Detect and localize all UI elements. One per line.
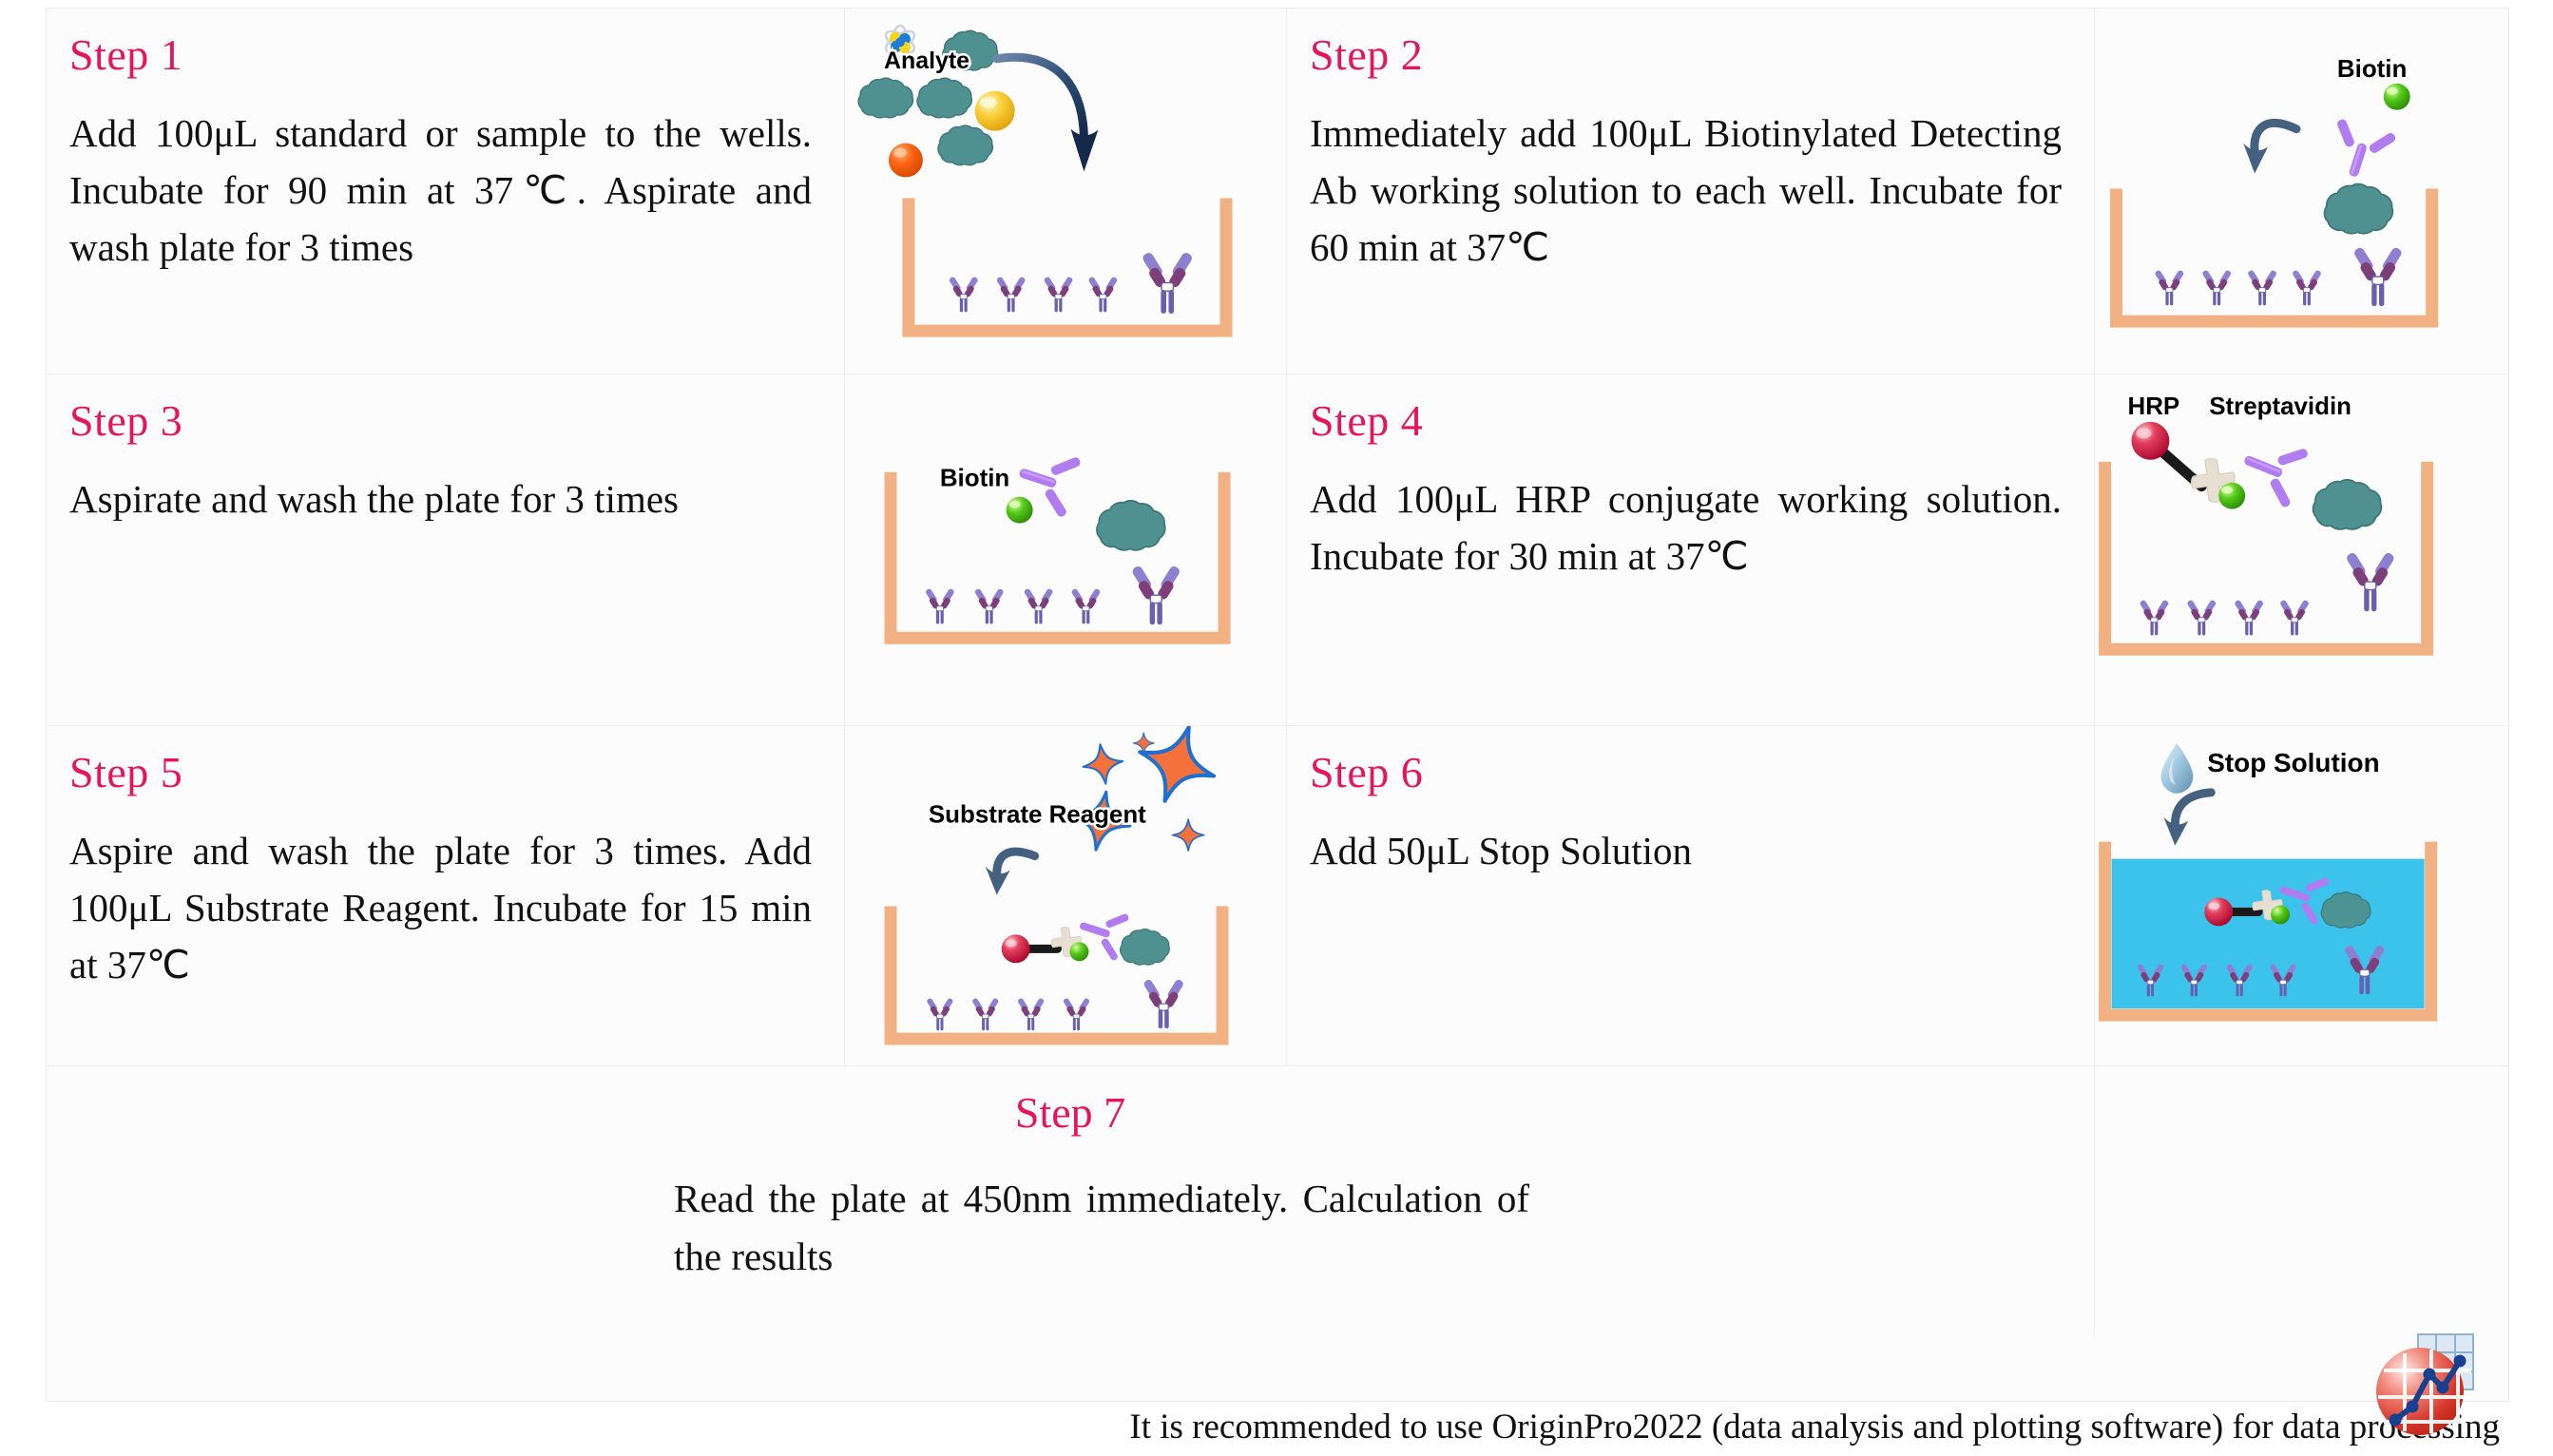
step-5-text-cell: Step 5 Aspire and wash the plate for 3 t… — [47, 726, 845, 1066]
capture-antibody — [1024, 588, 1054, 624]
biotin-sphere — [1007, 497, 1033, 524]
analyte-sphere-yellow — [975, 91, 1015, 131]
step-3-title: Step 3 — [69, 399, 812, 443]
capture-antibody — [974, 588, 1005, 624]
read-plate-figure — [2095, 1066, 2133, 1337]
step-6-figure-cell: Stop Solution — [2095, 726, 2508, 1066]
capture-antibody — [1071, 588, 1102, 624]
analyte-binding-figure: Analyte — [845, 9, 1286, 374]
capture-antibody — [925, 588, 955, 624]
capture-antibody — [2279, 600, 2310, 636]
footer: It is recommended to use OriginPro2022 (… — [46, 1401, 2507, 1456]
analyte-blob — [938, 125, 992, 165]
capture-antibody — [926, 998, 953, 1031]
bound-biotin-antibody-figure: Biotin — [845, 374, 1286, 725]
bound-analyte — [2313, 480, 2382, 529]
stop-solution-figure: Stop Solution — [2095, 726, 2508, 1065]
step-1-title: Step 1 — [69, 33, 812, 77]
capture-antibody — [1063, 998, 1090, 1031]
step-3-text-cell: Step 3 Aspirate and wash the plate for 3… — [47, 374, 845, 726]
detection-antibody — [2233, 429, 2313, 511]
capture-antibody — [1044, 277, 1074, 313]
capture-antibody — [1017, 998, 1045, 1031]
analyte-label: Analyte — [884, 48, 969, 74]
capture-antibody — [2140, 600, 2170, 636]
step-6-title: Step 6 — [1310, 751, 2062, 795]
step-4-title: Step 4 — [1310, 399, 2062, 443]
hrp-label: HRP — [2127, 393, 2179, 420]
biotin-sphere — [2384, 84, 2410, 110]
capture-antibody — [2234, 600, 2264, 636]
hrp-sphere — [2204, 897, 2233, 926]
bound-analyte — [1121, 929, 1170, 965]
curved-arrow-icon — [2243, 123, 2296, 173]
step-7-title: Step 7 — [47, 1087, 2094, 1138]
capture-antibody — [2186, 600, 2217, 636]
capture-antibody — [2247, 270, 2277, 306]
step-5-body: Aspire and wash the plate for 3 times. A… — [69, 823, 812, 994]
step-7-body: Read the plate at 450nm immediately. Cal… — [674, 1170, 1529, 1285]
capture-antibody — [996, 277, 1027, 313]
protocol-step-grid: Step 1 Add 100μL standard or sample to t… — [46, 8, 2509, 1402]
capture-antibody — [2201, 270, 2232, 306]
step-2-figure-cell: Biotin — [2095, 9, 2508, 374]
step-6-text-cell: Step 6 Add 50μL Stop Solution — [1287, 726, 2095, 1066]
biotin-label: Biotin — [940, 466, 1009, 492]
step-4-text-cell: Step 4 Add 100μL HRP conjugate working s… — [1287, 374, 2095, 726]
step-1-text-cell: Step 1 Add 100μL standard or sample to t… — [47, 9, 845, 374]
step-3-figure-cell: Biotin — [845, 374, 1287, 726]
water-drop-icon — [2160, 743, 2193, 794]
step-7-text-cell: Step 7 Read the plate at 450nm immediate… — [47, 1066, 2095, 1337]
step-4-body: Add 100μL HRP conjugate working solution… — [1310, 471, 2062, 585]
bound-analyte — [2325, 184, 2393, 234]
sparkle-icon — [1173, 819, 1204, 851]
capture-antibody-large — [1131, 565, 1181, 624]
step-3-body: Aspirate and wash the plate for 3 times — [69, 471, 812, 528]
substrate-reagent-label: Substrate Reagent — [929, 802, 1146, 829]
analyte-sphere-orange — [889, 144, 923, 178]
step-2-body: Immediately add 100μL Biotinylated Detec… — [1310, 105, 2062, 277]
hrp-sphere — [1002, 934, 1030, 963]
hrp-streptavidin-figure: HRP Streptavidin — [2095, 374, 2508, 725]
footer-note: It is recommended to use OriginPro2022 (… — [1129, 1407, 2500, 1447]
curved-arrow-icon — [2163, 793, 2211, 846]
detection-antibody — [2322, 114, 2399, 185]
capture-antibody-large — [1142, 251, 1194, 314]
biotin-sphere — [2271, 905, 2290, 924]
microplate-well — [891, 906, 1222, 1039]
step-7-figure-cell — [2095, 1066, 2508, 1337]
capture-antibody-large — [1142, 979, 1184, 1029]
streptavidin-label: Streptavidin — [2209, 393, 2351, 420]
step-2-text-cell: Step 2 Immediately add 100μL Biotinylate… — [1287, 9, 2095, 374]
stop-solution-liquid — [2112, 859, 2425, 1009]
sparkle-icon — [1133, 733, 1154, 754]
analyte-blob — [917, 78, 971, 118]
step-1-body: Add 100μL standard or sample to the well… — [69, 105, 812, 277]
step-2-title: Step 2 — [1310, 33, 2062, 77]
step-6-body: Add 50μL Stop Solution — [1310, 823, 2062, 880]
hrp-sphere — [2131, 422, 2169, 460]
capture-antibody — [1087, 277, 1118, 313]
sparkle-icon — [1081, 741, 1125, 786]
step-5-figure-cell: Substrate Reagent — [845, 726, 1287, 1066]
biotin-sphere — [2218, 483, 2245, 509]
biotinylated-antibody-figure: Biotin — [2095, 9, 2508, 374]
biotin-label: Biotin — [2337, 56, 2407, 83]
substrate-reagent-figure: Substrate Reagent — [845, 726, 1286, 1065]
capture-antibody-large — [2352, 246, 2403, 306]
step-4-figure-cell: HRP Streptavidin — [2095, 374, 2508, 726]
capture-antibody — [971, 998, 999, 1031]
bound-analyte — [1097, 501, 1165, 550]
capture-antibody-large — [2345, 551, 2395, 611]
elisa-protocol-diagram: Step 1 Add 100μL standard or sample to t… — [0, 0, 2553, 1456]
capture-antibody — [2292, 270, 2322, 306]
step-1-figure-cell: Analyte — [845, 9, 1287, 374]
stop-solution-label: Stop Solution — [2207, 748, 2379, 777]
step-5-title: Step 5 — [69, 751, 812, 795]
analyte-blob — [858, 78, 912, 118]
originpro-logo — [2365, 1332, 2477, 1445]
capture-antibody — [2154, 270, 2184, 306]
biotin-sphere — [1069, 942, 1088, 961]
capture-antibody — [949, 277, 979, 313]
curved-arrow-icon — [986, 852, 1035, 894]
